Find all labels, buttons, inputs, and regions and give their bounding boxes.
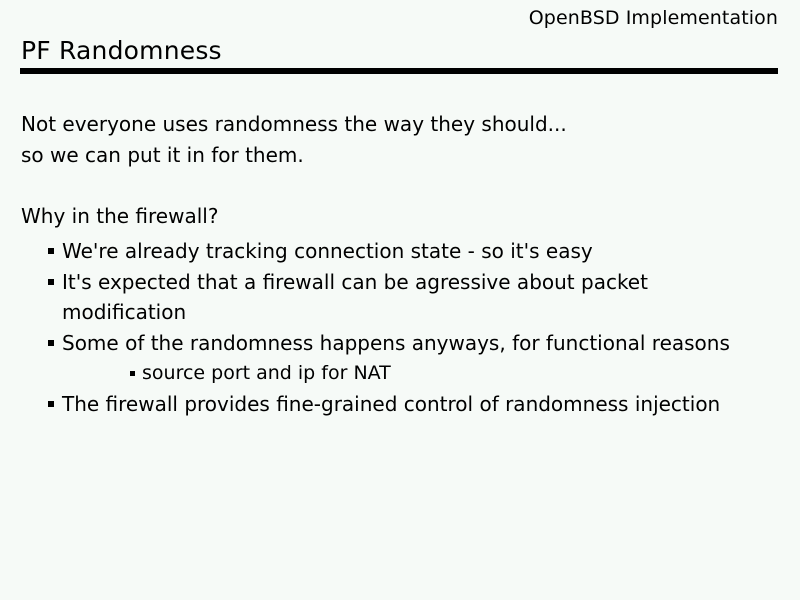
section-question: Why in the firewall? [21, 202, 218, 231]
sub-list-item: source port and ip for NAT [62, 358, 760, 388]
square-bullet-icon [48, 248, 54, 254]
list-item: We're already tracking connection state … [0, 236, 800, 266]
sub-list-item-label: source port and ip for NAT [142, 362, 391, 384]
title-divider [20, 68, 778, 74]
slide: OpenBSD Implementation PF Randomness Not… [0, 0, 800, 600]
intro-paragraph: Not everyone uses randomness the way the… [21, 109, 781, 171]
list-item-label: Some of the randomness happens anyways, … [62, 331, 730, 355]
list-item-label: It's expected that a firewall can be agr… [62, 270, 648, 324]
intro-line-1: Not everyone uses randomness the way the… [21, 109, 781, 140]
square-bullet-icon [48, 279, 54, 285]
square-bullet-icon [48, 340, 54, 346]
list-item: Some of the randomness happens anyways, … [0, 328, 800, 388]
list-item: It's expected that a firewall can be agr… [0, 267, 800, 327]
square-bullet-icon [48, 401, 54, 407]
intro-line-2: so we can put it in for them. [21, 140, 781, 171]
list-item-label: We're already tracking connection state … [62, 239, 593, 263]
list-item: The firewall provides fine-grained contr… [0, 389, 800, 419]
bullet-list: We're already tracking connection state … [0, 236, 800, 420]
square-bullet-icon [130, 371, 135, 376]
presentation-subtitle: OpenBSD Implementation [529, 6, 778, 30]
page-title: PF Randomness [21, 36, 222, 66]
list-item-label: The firewall provides fine-grained contr… [62, 392, 720, 416]
sub-bullet-list: source port and ip for NAT [62, 358, 760, 388]
